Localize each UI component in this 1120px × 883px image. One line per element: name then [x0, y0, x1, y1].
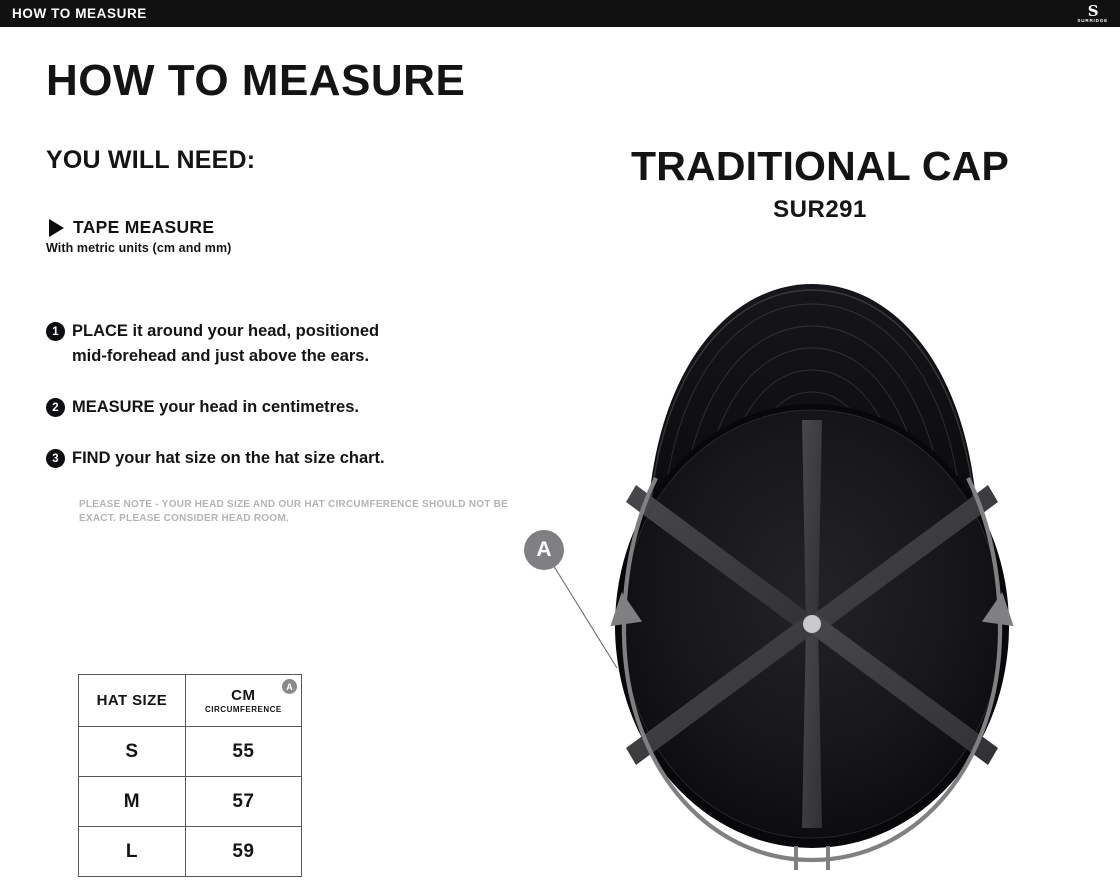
cell-cm: 57 [185, 777, 301, 827]
cell-hat-size: L [79, 827, 186, 877]
cap-crown [615, 404, 1009, 848]
table-row: M 57 [79, 777, 302, 827]
tape-measure-label: TAPE MEASURE [73, 217, 214, 238]
cell-hat-size: M [79, 777, 186, 827]
steps-list: 1 PLACE it around your head, positioned … [46, 319, 546, 471]
step-number-badge: 3 [46, 449, 65, 468]
please-note-text: PLEASE NOTE - YOUR HEAD SIZE AND OUR HAT… [79, 498, 546, 528]
step-item: 3 FIND your hat size on the hat size cha… [46, 446, 546, 471]
cell-hat-size: S [79, 727, 186, 777]
step-number-badge: 2 [46, 398, 65, 417]
table-row: S 55 [79, 727, 302, 777]
header-circumference-label: CIRCUMFERENCE [186, 705, 301, 714]
cap-diagram [500, 270, 1120, 883]
measure-a-badge-icon: A [282, 679, 297, 694]
step-text: MEASURE your head in centimetres. [72, 395, 359, 420]
left-column: HOW TO MEASURE YOU WILL NEED: TAPE MEASU… [46, 58, 546, 527]
cell-cm: 55 [185, 727, 301, 777]
table-header-row: HAT SIZE CM CIRCUMFERENCE A [79, 675, 302, 727]
tape-measure-item: TAPE MEASURE [46, 217, 546, 238]
surridge-logo: S SURRIDGE [1077, 4, 1120, 23]
table-row: L 59 [79, 827, 302, 877]
cell-cm: 59 [185, 827, 301, 877]
product-header: TRADITIONAL CAP SUR291 [520, 145, 1120, 224]
play-triangle-icon [49, 219, 64, 237]
product-title: TRADITIONAL CAP [520, 145, 1120, 188]
step-text: PLACE it around your head, positioned mi… [72, 319, 402, 369]
step-item: 1 PLACE it around your head, positioned … [46, 319, 546, 369]
tape-measure-subtitle: With metric units (cm and mm) [46, 241, 546, 255]
how-to-measure-page: HOW TO MEASURE S SURRIDGE HOW TO MEASURE… [0, 0, 1120, 883]
surridge-mark-icon: S [1088, 4, 1098, 18]
step-text: FIND your hat size on the hat size chart… [72, 446, 385, 471]
surridge-wordmark: SURRIDGE [1077, 19, 1108, 24]
page-title: HOW TO MEASURE [46, 58, 546, 104]
header-hat-size: HAT SIZE [79, 675, 186, 727]
top-bar: HOW TO MEASURE S SURRIDGE [0, 0, 1120, 27]
hat-size-table: HAT SIZE CM CIRCUMFERENCE A S 55 M 57 L … [78, 674, 302, 877]
step-number-badge: 1 [46, 322, 65, 341]
top-bar-title: HOW TO MEASURE [0, 7, 147, 21]
header-hat-size-label: HAT SIZE [79, 692, 185, 709]
crown-button-icon [803, 615, 821, 633]
step-item: 2 MEASURE your head in centimetres. [46, 395, 546, 420]
header-cm-circumference: CM CIRCUMFERENCE A [185, 675, 301, 727]
product-code: SUR291 [520, 196, 1120, 224]
measure-leader-line [550, 560, 617, 668]
measure-a-badge-icon: A [524, 530, 564, 570]
you-will-need-heading: YOU WILL NEED: [46, 146, 546, 175]
